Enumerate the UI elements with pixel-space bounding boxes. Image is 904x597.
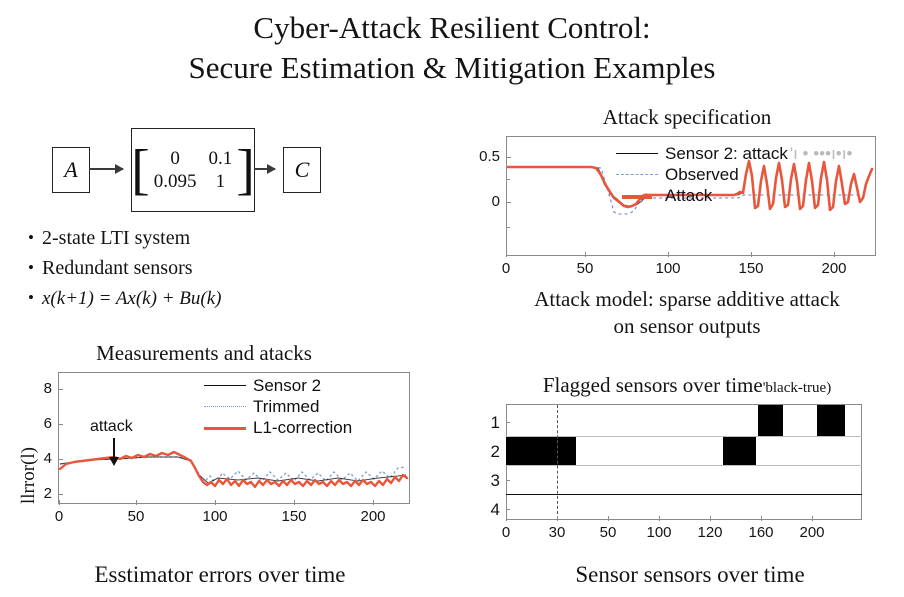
attack-annotation-arrow-icon [113, 438, 115, 458]
system-block-diagram: A [ 0 0.1 0.095 1 ] C [45, 128, 375, 210]
attack-specification-plot: 0.5 0 0 50 100 150 200 [470, 132, 904, 282]
flagged-xtick-30: 30 [542, 524, 572, 541]
attack-xtick-200: 200 [818, 260, 850, 277]
flagged-rowline-2-3 [506, 465, 862, 466]
measurements-plot: llrror(l) 8 6 4 2 0 50 100 150 200 [4, 368, 444, 548]
matrix-r0c0: 0 [153, 148, 198, 170]
attack-xtick-150: 150 [735, 260, 767, 277]
matrix-right-bracket: ] [236, 148, 255, 192]
matrix-r1c0: 0.095 [153, 171, 198, 193]
matrix-inner: [ 0 0.1 0.095 1 ] [131, 148, 255, 193]
legend-key-solid-black-icon [204, 379, 246, 393]
matrix-left-bracket: [ [131, 148, 150, 192]
flagged-sensors-title-sub: 'black-true) [763, 380, 832, 396]
legend-key-thick-red-icon [204, 421, 246, 435]
measurements-ytick-8: 8 [26, 380, 52, 397]
block-a-label: A [64, 157, 77, 183]
attack-ytick-0.5: 0.5 [470, 148, 500, 165]
block-matrix: [ 0 0.1 0.095 1 ] [131, 128, 255, 212]
attack-annotation-label: attack [90, 418, 133, 436]
legend-key-dashed-blue-icon [616, 168, 658, 182]
measurements-xtick-150: 150 [279, 508, 309, 525]
legend-key-thick-red-icon [616, 189, 658, 203]
bullet-marker-icon: • [28, 225, 42, 251]
measurements-panel: Measurements and atacks llrror(l) 8 6 4 … [4, 340, 444, 550]
legend-item-l1-correction: L1-correction [204, 418, 352, 438]
block-c: C [283, 147, 321, 193]
flagged-row-label-1: 1 [476, 413, 500, 433]
attack-specification-panel: Attack specification 0.5 0 0 50 100 150 … [470, 104, 904, 284]
measurements-title: Measurements and atacks [4, 340, 404, 366]
flagged-sensors-caption: Sensor sensors over time [480, 562, 900, 588]
attack-specification-title: Attack specification [470, 104, 904, 130]
legend-label-l1-correction: L1-correction [253, 418, 352, 438]
flagged-ytickmark-1 [506, 422, 510, 423]
flagged-xtick-120: 120 [695, 524, 725, 541]
title-line-1: Cyber-Attack Resilient Control: [0, 8, 904, 48]
measurements-xtick-100: 100 [200, 508, 230, 525]
slide-root: Cyber-Attack Resilient Control: Secure E… [0, 0, 904, 597]
flagged-sensors-plot: 1 2 3 4 0 30 50 100 120 160 [470, 402, 904, 547]
measurements-xtick-50: 50 [121, 508, 151, 525]
attack-ytick-0: 0 [470, 193, 500, 210]
bullet-equation: x(k+1) = Ax(k) + Bu(k) [42, 285, 221, 312]
flagged-xtickmark-160 [761, 516, 762, 521]
flagged-ytickmark-3 [506, 480, 510, 481]
flagged-vertical-dashed-marker [557, 405, 558, 519]
flagged-xtick-160: 160 [746, 524, 776, 541]
title-line-2: Secure Estimation & Mitigation Examples [0, 48, 904, 88]
legend-label-observed: Observed [665, 165, 739, 185]
attack-model-caption-line2: on sensor outputs [470, 313, 904, 340]
measurements-ytick-6: 6 [26, 415, 52, 432]
legend-key-solid-black-icon [616, 147, 658, 161]
bullet-marker-icon: • [28, 285, 42, 311]
legend-item-attack: Attack [616, 186, 852, 206]
list-item: • Redundant sensors [28, 255, 358, 282]
flagged-cell-row2-a [506, 437, 576, 466]
flagged-sensors-panel: Flagged sensors over time'black-true) 1 … [470, 372, 904, 547]
block-a: A [52, 147, 90, 193]
flagged-ytickmark-4 [506, 509, 510, 510]
list-item: • 2-state LTI system [28, 225, 358, 252]
legend-item-sensor2: Sensor 2 [204, 376, 352, 396]
measurements-xtick-200: 200 [358, 508, 388, 525]
measurements-ytick-4: 4 [26, 450, 52, 467]
attack-model-caption: Attack model: sparse additive attack on … [470, 286, 904, 340]
flagged-row-label-3: 3 [476, 471, 500, 491]
flagged-sensors-title-main: Flagged sensors over time [543, 373, 763, 397]
flagged-xtick-50: 50 [593, 524, 623, 541]
flagged-xtick-200: 200 [797, 524, 827, 541]
attack-xtick-0: 0 [490, 260, 522, 277]
legend-item-observed: Observed [616, 165, 852, 185]
block-c-label: C [295, 157, 310, 183]
flagged-xtick-0: 0 [491, 524, 521, 541]
flagged-xtick-100: 100 [644, 524, 674, 541]
legend-label-ghost-artifact: 'ı • •••ı•ı• [790, 144, 853, 164]
flagged-cell-row2-b [723, 437, 756, 466]
matrix-r1c1: 1 [208, 171, 234, 193]
flagged-sensors-title: Flagged sensors over time'black-true) [470, 372, 904, 401]
legend-label-trimmed: Trimmed [253, 397, 319, 417]
bullet-list: • 2-state LTI system • Redundant sensors… [28, 225, 358, 315]
attack-xtick-100: 100 [652, 260, 684, 277]
flagged-xtickmark-200 [812, 516, 813, 521]
list-item: • x(k+1) = Ax(k) + Bu(k) [28, 285, 358, 312]
legend-label-sensor2: Sensor 2 [253, 376, 321, 396]
flagged-xtickmark-100 [659, 516, 660, 521]
legend-key-dotted-blue-icon [204, 400, 246, 414]
flagged-cell-row1-b [817, 405, 845, 436]
measurements-plot-legend: Sensor 2 Trimmed L1-correction [204, 376, 352, 439]
flagged-xtickmark-50 [608, 516, 609, 521]
arrow-matrix-to-c [254, 168, 275, 170]
flagged-row-label-2: 2 [476, 442, 500, 462]
bullet-marker-icon: • [28, 255, 42, 281]
bullet-text: 2-state LTI system [42, 225, 190, 252]
matrix-r0c1: 0.1 [208, 148, 234, 170]
flagged-xtickmark-30 [557, 516, 558, 521]
legend-item-trimmed: Trimmed [204, 397, 352, 417]
attack-xtick-50: 50 [569, 260, 601, 277]
measurements-ytick-2: 2 [26, 485, 52, 502]
attack-model-caption-line1: Attack model: sparse additive attack [470, 286, 904, 313]
measurements-xtick-0: 0 [44, 508, 74, 525]
flagged-cell-row1-a [758, 405, 783, 436]
flagged-xtickmark-120 [710, 516, 711, 521]
legend-item-sensor2: Sensor 2: attack 'ı • •••ı•ı• [616, 144, 852, 164]
page-title: Cyber-Attack Resilient Control: Secure E… [0, 8, 904, 88]
matrix-values: 0 0.1 0.095 1 [153, 148, 234, 193]
bullet-text: Redundant sensors [42, 255, 193, 282]
flagged-rowline-3-4 [506, 494, 862, 495]
arrow-a-to-matrix [89, 168, 123, 170]
legend-label-sensor2: Sensor 2: attack [665, 144, 788, 164]
flagged-xtickmark-0 [506, 516, 507, 521]
attack-plot-legend: Sensor 2: attack 'ı • •••ı•ı• Observed A… [616, 144, 852, 207]
flagged-row-label-4: 4 [476, 500, 500, 520]
legend-label-attack: Attack [665, 186, 712, 206]
measurements-caption: Esstimator errors over time [10, 562, 430, 588]
